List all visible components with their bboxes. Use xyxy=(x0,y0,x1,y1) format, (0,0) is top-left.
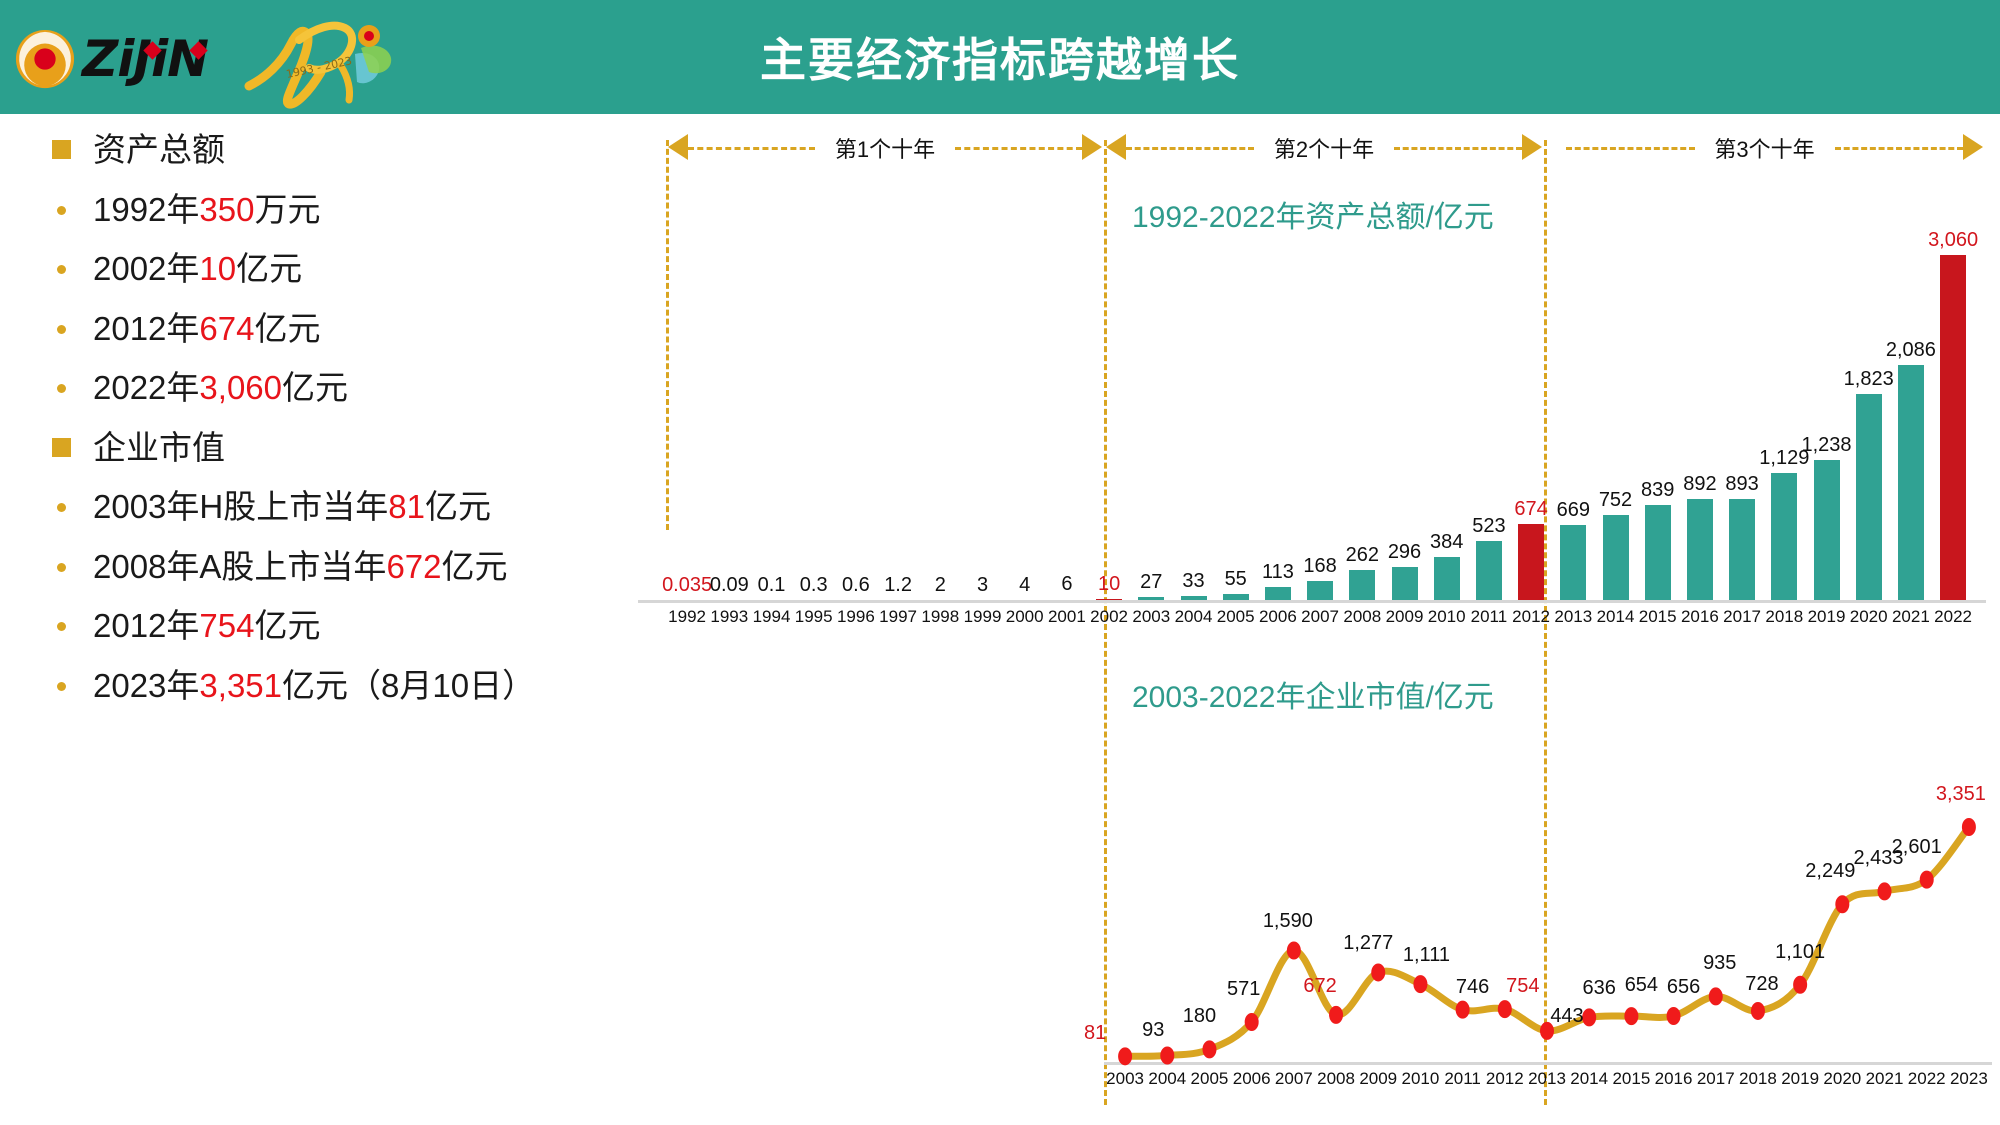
bar-2017 xyxy=(1729,499,1755,600)
line-point-2010 xyxy=(1413,975,1427,993)
bar-2008 xyxy=(1349,570,1375,600)
line-value-label-2013: 443 xyxy=(1532,1005,1602,1028)
bar-2005 xyxy=(1223,594,1249,600)
line-x-label-2005: 2005 xyxy=(1185,1069,1233,1089)
line-point-2022 xyxy=(1920,871,1934,889)
bar-2020 xyxy=(1856,394,1882,600)
line-x-label-2007: 2007 xyxy=(1270,1069,1318,1089)
bar-2006 xyxy=(1265,587,1291,600)
line-point-2015 xyxy=(1624,1007,1638,1025)
bar-value-label-2017: 893 xyxy=(1707,473,1777,496)
line-point-2006 xyxy=(1245,1013,1259,1031)
line-point-2011 xyxy=(1456,1001,1470,1019)
line-x-label-2016: 2016 xyxy=(1650,1069,1698,1089)
line-value-label-2006: 571 xyxy=(1209,978,1279,1001)
line-x-label-2018: 2018 xyxy=(1734,1069,1782,1089)
line-x-label-2017: 2017 xyxy=(1692,1069,1740,1089)
line-value-label-2018: 728 xyxy=(1727,973,1797,996)
bar-2010 xyxy=(1434,557,1460,600)
bar-value-label-2020: 1,823 xyxy=(1834,368,1904,391)
line-point-2018 xyxy=(1751,1002,1765,1020)
bar-chart-axis-line xyxy=(638,600,1986,603)
line-x-label-2010: 2010 xyxy=(1396,1069,1444,1089)
charts-container: 1992-2022年资产总额/亿元0.03519920.0919930.1199… xyxy=(0,0,2000,1125)
line-x-label-2013: 2013 xyxy=(1523,1069,1571,1089)
line-x-label-2003: 2003 xyxy=(1101,1069,1149,1089)
line-point-2007 xyxy=(1287,941,1301,959)
bar-2013 xyxy=(1560,525,1586,600)
line-value-label-2019: 1,101 xyxy=(1765,941,1835,964)
bar-x-label-2022: 2022 xyxy=(1927,607,1979,627)
line-x-label-2008: 2008 xyxy=(1312,1069,1360,1089)
line-x-label-2014: 2014 xyxy=(1565,1069,1613,1089)
line-chart-axis-line xyxy=(1104,1062,1992,1065)
bar-value-label-2019: 1,238 xyxy=(1792,434,1862,457)
line-x-label-2021: 2021 xyxy=(1861,1069,1909,1089)
line-value-label-2005: 180 xyxy=(1164,1005,1234,1028)
line-x-label-2006: 2006 xyxy=(1228,1069,1276,1089)
line-point-2009 xyxy=(1371,963,1385,981)
line-x-label-2023: 2023 xyxy=(1945,1069,1993,1089)
decade-divider-line xyxy=(666,140,669,530)
line-point-2020 xyxy=(1835,895,1849,913)
line-x-label-2009: 2009 xyxy=(1354,1069,1402,1089)
line-point-2016 xyxy=(1667,1007,1681,1025)
bar-2012 xyxy=(1518,524,1544,600)
line-x-label-2011: 2011 xyxy=(1439,1069,1487,1089)
bar-2011 xyxy=(1476,541,1502,600)
line-x-label-2019: 2019 xyxy=(1776,1069,1824,1089)
bar-2007 xyxy=(1307,581,1333,600)
line-value-label-2012: 754 xyxy=(1488,975,1558,998)
bar-2019 xyxy=(1814,460,1840,600)
line-point-2023 xyxy=(1962,818,1976,836)
line-value-label-2008: 672 xyxy=(1285,975,1355,998)
line-x-label-2020: 2020 xyxy=(1818,1069,1866,1089)
line-point-2012 xyxy=(1498,1000,1512,1018)
bar-2014 xyxy=(1603,515,1629,600)
line-point-2005 xyxy=(1202,1040,1216,1058)
bar-2018 xyxy=(1771,473,1797,600)
line-value-label-2023: 3,351 xyxy=(1926,783,1996,806)
line-chart-title: 2003-2022年企业市值/亿元 xyxy=(1132,672,1494,716)
bar-value-label-2021: 2,086 xyxy=(1876,339,1946,362)
bar-2015 xyxy=(1645,505,1671,600)
line-x-label-2012: 2012 xyxy=(1481,1069,1529,1089)
line-value-label-2007: 1,590 xyxy=(1253,910,1323,933)
bar-2004 xyxy=(1181,596,1207,600)
line-value-label-2016: 656 xyxy=(1649,976,1719,999)
line-x-label-2004: 2004 xyxy=(1143,1069,1191,1089)
bar-2021 xyxy=(1898,365,1924,600)
bar-2022 xyxy=(1940,255,1966,600)
bar-2002 xyxy=(1096,599,1122,600)
line-x-label-2022: 2022 xyxy=(1903,1069,1951,1089)
line-value-label-2022: 2,601 xyxy=(1882,836,1952,859)
line-point-2008 xyxy=(1329,1006,1343,1024)
bar-chart-title: 1992-2022年资产总额/亿元 xyxy=(1132,192,1494,236)
line-x-label-2015: 2015 xyxy=(1607,1069,1655,1089)
bar-2016 xyxy=(1687,499,1713,600)
bar-2003 xyxy=(1138,597,1164,600)
bar-2009 xyxy=(1392,567,1418,600)
bar-value-label-2022: 3,060 xyxy=(1918,229,1988,252)
line-point-2021 xyxy=(1878,882,1892,900)
line-value-label-2010: 1,111 xyxy=(1391,944,1461,967)
